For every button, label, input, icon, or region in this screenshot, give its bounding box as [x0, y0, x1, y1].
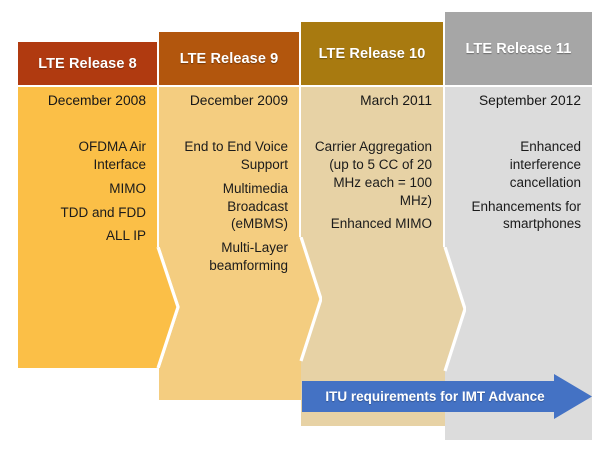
spacer — [310, 112, 432, 138]
feature-list-release-9: End to End Voice Support Multimedia Broa… — [168, 138, 288, 275]
spacer — [168, 112, 288, 138]
column-header-label: LTE Release 10 — [319, 46, 426, 62]
feature-item: MIMO — [27, 180, 146, 198]
column-body-release-9: December 2009 End to End Voice Support M… — [159, 87, 299, 400]
feature-item: Multi-Layer beamforming — [168, 239, 288, 275]
column-header-release-10: LTE Release 10 — [301, 22, 443, 85]
feature-item: Multimedia Broadcast (eMBMS) — [168, 180, 288, 233]
timeline-diagram: LTE Release 8 December 2008 OFDMA Air In… — [0, 0, 600, 450]
timeline-column-release-9[interactable]: LTE Release 9 December 2009 End to End V… — [159, 32, 299, 400]
column-header-label: LTE Release 9 — [180, 51, 279, 67]
feature-item: TDD and FDD — [27, 204, 146, 222]
feature-item: Carrier Aggregation (up to 5 CC of 20 MH… — [310, 138, 432, 209]
itu-requirements-arrow[interactable]: ITU requirements for IMT Advance — [302, 374, 592, 419]
column-date-release-8: December 2008 — [27, 92, 146, 110]
arrow-label: ITU requirements for IMT Advance — [302, 374, 554, 419]
feature-item: ALL IP — [27, 227, 146, 245]
feature-item: Enhanced MIMO — [310, 215, 432, 233]
column-date-release-10: March 2011 — [310, 92, 432, 110]
feature-item: Enhanced interference cancellation — [454, 138, 581, 191]
feature-list-release-8: OFDMA Air Interface MIMO TDD and FDD ALL… — [27, 138, 146, 245]
column-header-release-8: LTE Release 8 — [18, 42, 157, 85]
spacer — [454, 112, 581, 138]
feature-list-release-10: Carrier Aggregation (up to 5 CC of 20 MH… — [310, 138, 432, 233]
feature-item: Enhancements for smartphones — [454, 198, 581, 234]
column-header-label: LTE Release 8 — [38, 56, 137, 72]
column-body-release-8: December 2008 OFDMA Air Interface MIMO T… — [18, 87, 157, 368]
spacer — [27, 112, 146, 138]
column-header-release-9: LTE Release 9 — [159, 32, 299, 85]
timeline-column-release-10[interactable]: LTE Release 10 March 2011 Carrier Aggreg… — [301, 22, 443, 426]
feature-list-release-11: Enhanced interference cancellation Enhan… — [454, 138, 581, 233]
timeline-column-release-8[interactable]: LTE Release 8 December 2008 OFDMA Air In… — [18, 42, 157, 368]
column-date-release-11: September 2012 — [454, 92, 581, 110]
feature-item: OFDMA Air Interface — [27, 138, 146, 174]
column-header-label: LTE Release 11 — [466, 41, 572, 57]
feature-item: End to End Voice Support — [168, 138, 288, 174]
column-header-release-11: LTE Release 11 — [445, 12, 592, 85]
column-date-release-9: December 2009 — [168, 92, 288, 110]
